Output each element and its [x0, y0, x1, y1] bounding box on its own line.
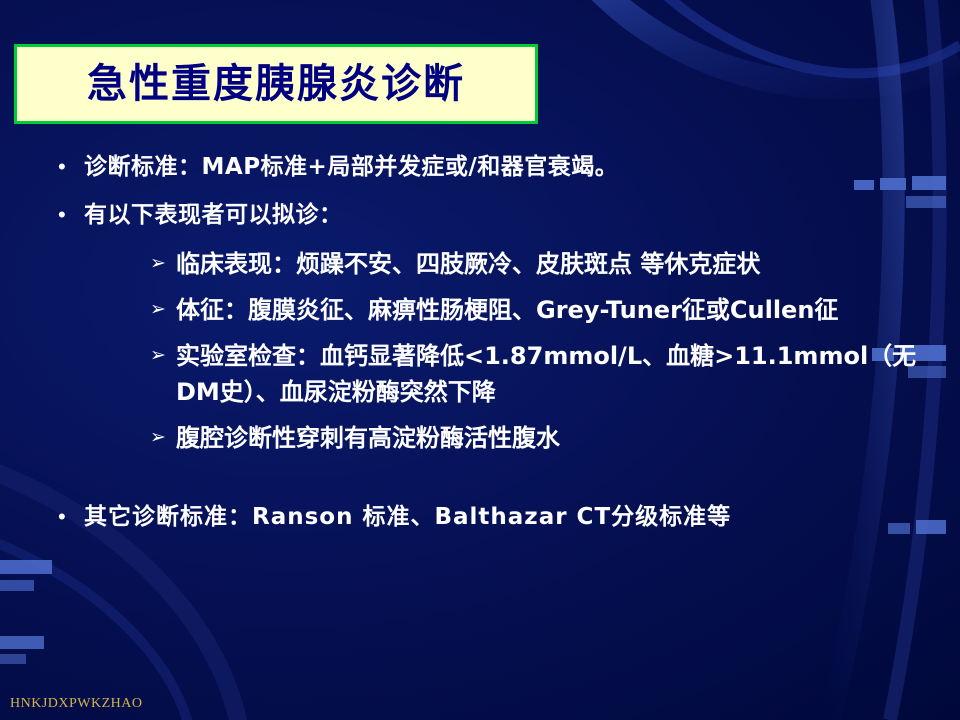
bullet-item: • 其它诊断标准：Ranson 标准、Balthazar CT分级标准等: [0, 500, 960, 534]
slide-title-box: 急性重度胰腺炎诊断: [14, 44, 538, 124]
sub-bullet-item: ➢ 体征：腹膜炎征、麻痹性肠梗阻、Grey-Tuner征或Cullen征: [0, 292, 960, 328]
bullet-marker: •: [58, 198, 84, 232]
sub-bullet-text: 体征：腹膜炎征、麻痹性肠梗阻、Grey-Tuner征或Cullen征: [176, 292, 838, 328]
bullet-text: 其它诊断标准：Ranson 标准、Balthazar CT分级标准等: [84, 500, 731, 534]
slide-body: • 诊断标准：MAP标准+局部并发症或/和器官衰竭。 • 有以下表现者可以拟诊：…: [0, 150, 960, 548]
bullet-item: • 有以下表现者可以拟诊：: [0, 198, 960, 232]
page-title: 急性重度胰腺炎诊断: [87, 64, 465, 104]
spacer: [0, 466, 960, 500]
bullet-marker: •: [58, 150, 84, 184]
slide-footer: HNKJDXPWKZHAO: [10, 696, 143, 712]
sub-bullet-text: 实验室检查：血钙显著降低<1.87mmol/L、血糖>11.1mmol（无DM史…: [176, 338, 940, 410]
sub-bullet-text: 腹腔诊断性穿刺有高淀粉酶活性腹水: [176, 420, 560, 456]
sub-bullet-item: ➢ 实验室检查：血钙显著降低<1.87mmol/L、血糖>11.1mmol（无D…: [0, 338, 960, 410]
bullet-text: 诊断标准：MAP标准+局部并发症或/和器官衰竭。: [84, 150, 618, 184]
sub-bullet-text: 临床表现：烦躁不安、四肢厥冷、皮肤斑点 等休克症状: [176, 246, 760, 282]
bullet-marker: •: [58, 500, 84, 534]
arrow-bullet-icon: ➢: [150, 246, 176, 282]
bullet-item: • 诊断标准：MAP标准+局部并发症或/和器官衰竭。: [0, 150, 960, 184]
sub-bullet-item: ➢ 腹腔诊断性穿刺有高淀粉酶活性腹水: [0, 420, 960, 456]
sub-bullet-item: ➢ 临床表现：烦躁不安、四肢厥冷、皮肤斑点 等休克症状: [0, 246, 960, 282]
slide: 急性重度胰腺炎诊断 • 诊断标准：MAP标准+局部并发症或/和器官衰竭。 • 有…: [0, 0, 960, 720]
bullet-text: 有以下表现者可以拟诊：: [84, 198, 343, 232]
arrow-bullet-icon: ➢: [150, 420, 176, 456]
arrow-bullet-icon: ➢: [150, 338, 176, 374]
arrow-bullet-icon: ➢: [150, 292, 176, 328]
